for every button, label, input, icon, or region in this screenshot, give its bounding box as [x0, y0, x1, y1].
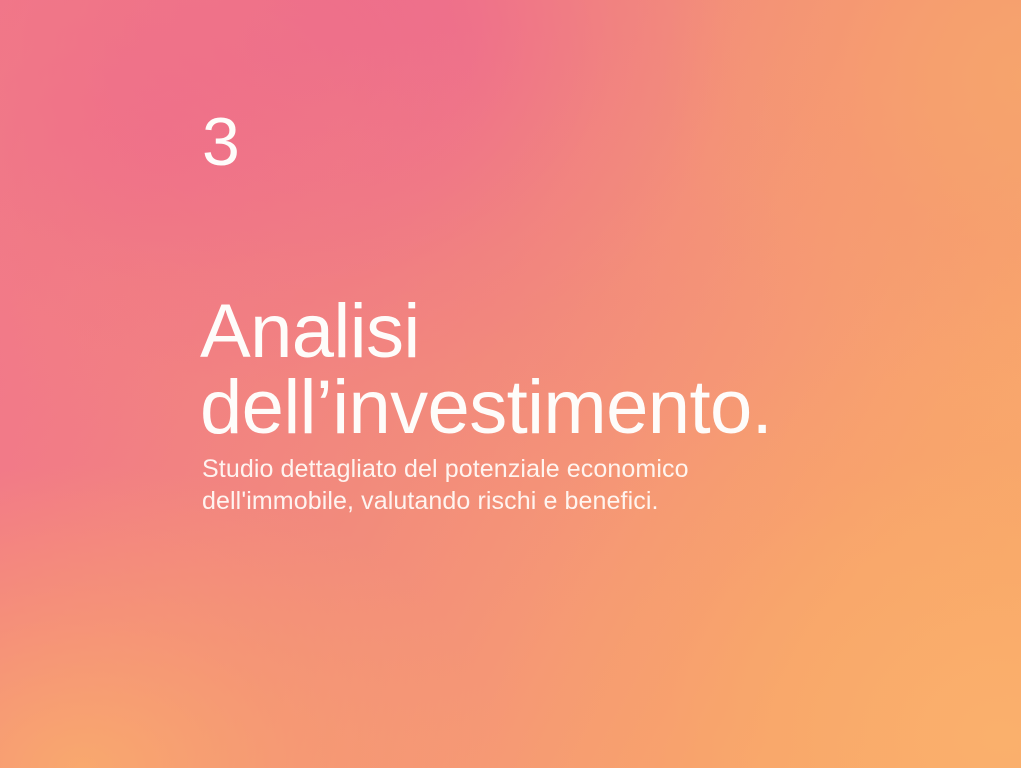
page-subtitle-line-1: Studio dettagliato del potenziale econom… — [202, 453, 689, 485]
presentation-slide: 3 Analisi dell’investimento. Studio dett… — [0, 0, 1021, 768]
page-title-line-2: dell’investimento. — [200, 370, 772, 446]
page-title-line-1: Analisi — [200, 294, 772, 370]
page-subtitle-line-2: dell'immobile, valutando rischi e benefi… — [202, 485, 689, 517]
page-title: Analisi dell’investimento. — [200, 294, 772, 446]
page-subtitle: Studio dettagliato del potenziale econom… — [202, 453, 689, 517]
slide-content: 3 Analisi dell’investimento. Studio dett… — [202, 0, 962, 768]
section-number: 3 — [202, 108, 240, 176]
